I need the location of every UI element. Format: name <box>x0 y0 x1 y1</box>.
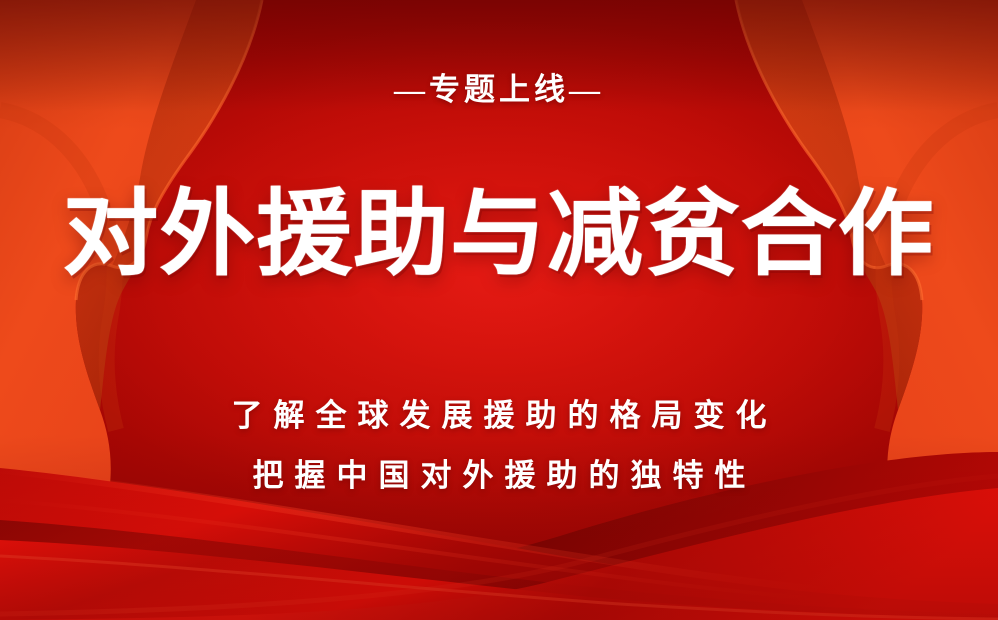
page-title: 对外援助与减贫合作 <box>63 187 935 281</box>
subtitle-block: 了解全球发展援助的格局变化 把握中国对外援助的独特性 <box>221 386 778 507</box>
subtitle-line-1: 了解全球发展援助的格局变化 <box>221 386 778 446</box>
subtitle-line-2: 把握中国对外援助的独特性 <box>221 446 778 506</box>
poster-content: —专题上线— 对外援助与减贫合作 了解全球发展援助的格局变化 把握中国对外援助的… <box>0 0 998 620</box>
poster-canvas: —专题上线— 对外援助与减贫合作 了解全球发展援助的格局变化 把握中国对外援助的… <box>0 0 998 620</box>
eyebrow-label: —专题上线— <box>394 74 604 105</box>
